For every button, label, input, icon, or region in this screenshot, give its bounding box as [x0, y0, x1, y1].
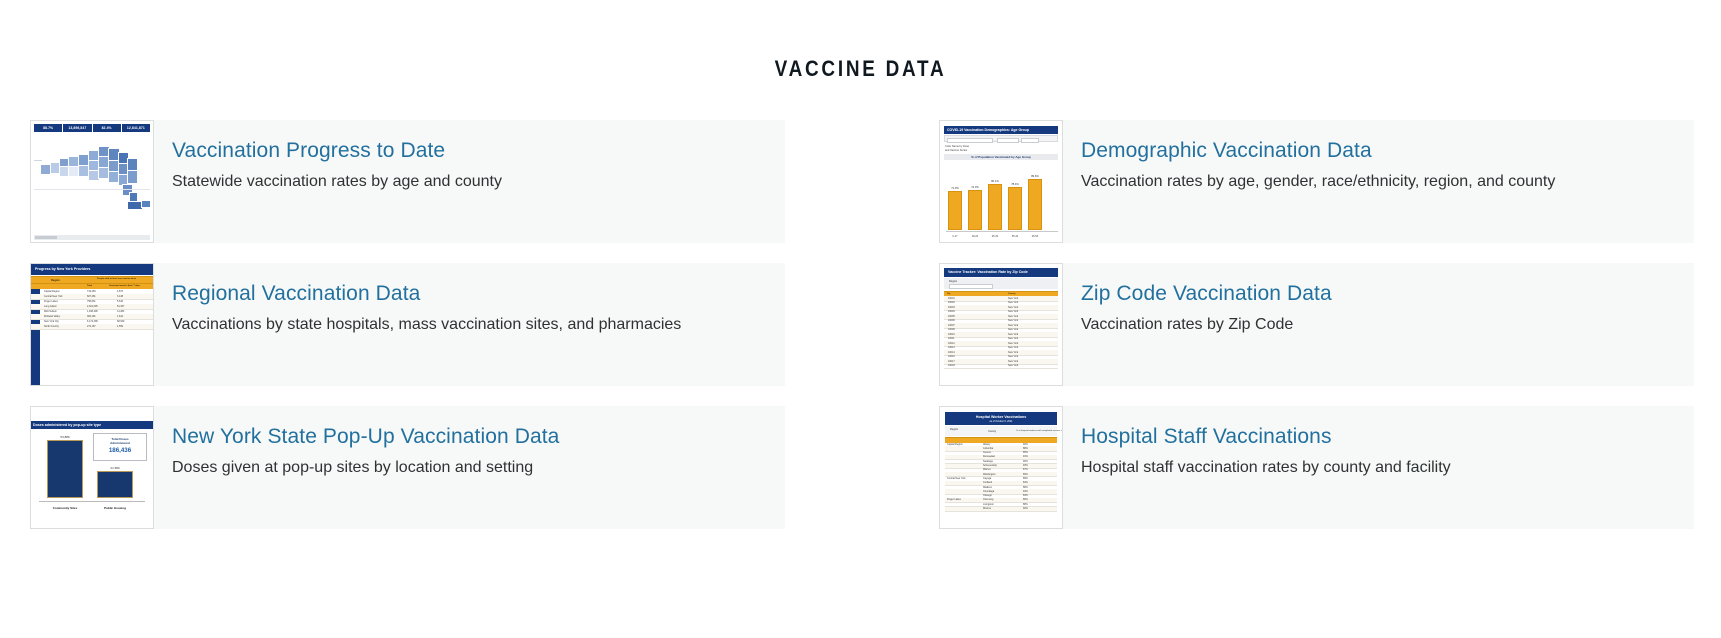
thumb-stat-value: 82.4%: [93, 124, 121, 132]
card-title-link[interactable]: Regional Vaccination Data: [172, 281, 681, 306]
thumb-select: [947, 138, 993, 143]
thumb-kpi-box: Total Doses Administered 186,436: [93, 433, 147, 461]
table-cell: 3,148: [117, 295, 123, 298]
table-cell: 68,939: [117, 320, 124, 323]
card-title-link[interactable]: Zip Code Vaccination Data: [1081, 281, 1332, 306]
thumb-header-title: COVID-19 Vaccination Demographics: Age G…: [944, 126, 1058, 132]
table-cell: 1,559: [117, 325, 123, 328]
table-cell: 758,661: [87, 300, 96, 303]
thumb-group-header: People with at least one vaccine dose: [97, 278, 136, 280]
thumb-col-header: County: [1008, 293, 1016, 295]
table-cell: North Country: [44, 325, 59, 328]
thumb-bar: [948, 191, 962, 230]
table-cell: 10016: [948, 355, 955, 358]
table-cell: 92%: [1023, 443, 1028, 446]
card-description: Doses given at pop-up sites by location …: [172, 458, 559, 478]
thumb-x-label: 45-54: [1028, 235, 1042, 238]
card-title-link[interactable]: New York State Pop-Up Vaccination Data: [172, 424, 559, 449]
thumb-bar-label: 78.4%: [1008, 183, 1022, 186]
table-cell: 14,284: [117, 310, 124, 313]
table-cell: New York: [1008, 360, 1018, 363]
thumb-col-header: Vaccinated week to date / 7 days: [109, 285, 140, 287]
table-cell: New York: [1008, 333, 1018, 336]
table-row: North Country 274,187 1,559: [31, 324, 153, 330]
table-cell: 10002: [948, 301, 955, 304]
card-body: Zip Code Vaccination Data Vaccination ra…: [1081, 263, 1344, 335]
vaccine-data-card-grid: 88.7% 13,896,847 82.4% 12,841,871: [30, 120, 1694, 529]
thumb-bar-plot: 71.3% 72.3% 80.1% 78.4% 89.6%: [946, 163, 1058, 230]
table-cell: Capital Region: [44, 290, 60, 293]
thumb-bar-label: 53,889: [43, 435, 87, 439]
card-body: New York State Pop-Up Vaccination Data D…: [172, 406, 571, 478]
thumb-bar: [1008, 187, 1022, 230]
card-popup-vaccination[interactable]: Doses administered by pop-up site type T…: [30, 406, 785, 529]
table-cell: Mid-Hudson: [44, 310, 57, 313]
thumb-x-label: Public Housing: [91, 506, 139, 510]
thumb-bar-label: 71.3%: [948, 187, 962, 190]
table-cell: 10003: [948, 306, 955, 309]
thumb-col-header: County: [983, 428, 996, 433]
card-body: Vaccination Progress to Date Statewide v…: [172, 120, 514, 192]
thumb-filter-row: [944, 135, 1058, 142]
thumb-stat-value: 12,841,871: [122, 124, 150, 132]
table-cell: Greene: [983, 451, 991, 454]
thumb-kpi-value: 186,436: [94, 446, 146, 454]
table-cell: New York City: [44, 320, 59, 323]
table-cell: 1,468,498: [87, 310, 98, 313]
table-cell: Washington: [983, 473, 996, 476]
thumbnail-vaccination-progress[interactable]: 88.7% 13,896,847 82.4% 12,841,871: [30, 120, 154, 243]
card-description: Vaccination rates by Zip Code: [1081, 315, 1332, 335]
thumb-bar-label: 21,580: [93, 466, 137, 470]
thumb-col-header: Region: [51, 279, 60, 282]
table-cell: 384,181: [87, 315, 96, 318]
table-cell: 274,187: [87, 325, 96, 328]
thumb-x-label: Community Sites: [41, 506, 89, 510]
table-cell: New York: [1008, 310, 1018, 313]
thumb-select: [1021, 138, 1039, 143]
table-cell: New York: [1008, 337, 1018, 340]
thumb-x-label: 18-24: [968, 235, 982, 238]
thumbnail-hospital-staff-vaccinations[interactable]: Hospital Worker Vaccinations as of Octob…: [939, 406, 1063, 529]
table-cell: Mohawk Valley: [44, 315, 60, 318]
table-cell: 607,481: [87, 295, 96, 298]
thumb-bar: [988, 184, 1002, 230]
table-cell: 88%: [1023, 486, 1028, 489]
table-cell: Long Island: [44, 305, 56, 308]
new-york-choropleth-map: [34, 134, 150, 233]
table-cell: Chemung: [983, 498, 993, 501]
thumb-bar: [1028, 179, 1042, 230]
thumbnail-popup-vaccination[interactable]: Doses administered by pop-up site type T…: [30, 406, 154, 529]
table-cell: New York: [1008, 346, 1018, 349]
table-cell: 88%: [1023, 447, 1028, 450]
thumb-x-label: 25-34: [988, 235, 1002, 238]
thumb-subtitle-bar: % of Population Vaccinated by Age Group: [944, 154, 1058, 160]
table-cell: 10009: [948, 328, 955, 331]
table-cell: New York: [1008, 306, 1018, 309]
table-cell: 4,873: [117, 290, 123, 293]
table-cell: 10017: [948, 360, 955, 363]
table-row: Monroe92%: [945, 507, 1057, 512]
thumb-x-label: 35-44: [1008, 235, 1022, 238]
table-cell: New York: [1008, 328, 1018, 331]
table-cell: Cortland: [983, 481, 992, 484]
table-cell: New York: [1008, 315, 1018, 318]
thumb-footer-bar: [34, 235, 150, 240]
table-cell: 91%: [1023, 455, 1028, 458]
table-cell: New York: [1008, 324, 1018, 327]
card-body: Demographic Vaccination Data Vaccination…: [1081, 120, 1567, 192]
table-cell: 719,483: [87, 290, 96, 293]
table-cell: 5,615: [117, 300, 123, 303]
thumb-bar: [47, 440, 83, 498]
thumb-stat-value: 13,896,847: [63, 124, 91, 132]
table-cell: 94%: [1023, 490, 1028, 493]
thumb-header-subtitle: as of October 6, 2021: [945, 419, 1057, 423]
table-cell: 88%: [1023, 503, 1028, 506]
card-description: Statewide vaccination rates by age and c…: [172, 172, 502, 192]
table-cell: New York: [1008, 301, 1018, 304]
thumb-header-title: Progress by New York Providers: [31, 264, 153, 271]
table-cell: 86%: [1023, 473, 1028, 476]
table-cell: 10011: [948, 337, 954, 340]
table-cell: 10005: [948, 315, 955, 318]
thumb-header-bar: COVID-19 Vaccination Demographics: Age G…: [944, 126, 1058, 134]
table-cell: Saratoga: [983, 460, 993, 463]
card-body: Regional Vaccination Data Vaccinations b…: [172, 263, 693, 335]
table-cell: 86%: [1023, 498, 1028, 501]
thumb-legend-line-2: and Vaccine Series: [945, 149, 969, 153]
table-cell: 90%: [1023, 460, 1028, 463]
card-title-link[interactable]: Hospital Staff Vaccinations: [1081, 424, 1451, 449]
table-cell: 87%: [1023, 468, 1028, 471]
table-cell: 51,337: [117, 305, 124, 308]
table-cell: New York: [1008, 351, 1018, 354]
table-cell: 92%: [1023, 507, 1028, 510]
card-title-link[interactable]: Vaccination Progress to Date: [172, 138, 502, 163]
table-cell: 84%: [1023, 481, 1028, 484]
thumb-stat-bar: 88.7% 13,896,847 82.4% 12,841,871: [34, 124, 150, 132]
card-vaccination-progress[interactable]: 88.7% 13,896,847 82.4% 12,841,871: [30, 120, 785, 243]
table-cell: 6,174,398: [87, 320, 98, 323]
table-cell: New York: [1008, 319, 1018, 322]
table-cell: Madison: [983, 486, 992, 489]
table-cell: Oswego: [983, 494, 992, 497]
thumb-header-bar: Vaccine Tracker: Vaccination Rate by Zip…: [944, 268, 1058, 277]
thumb-filter-panel: Region: [944, 278, 1058, 289]
thumb-column-labels: Region County % of hospital workers with…: [945, 426, 1057, 436]
thumbnail-zip-code-vaccination[interactable]: Vaccine Tracker: Vaccination Rate by Zip…: [939, 263, 1063, 386]
table-cell: Monroe: [983, 507, 991, 510]
table-cell: 10007: [948, 324, 955, 327]
thumb-header-title: Hospital Worker Vaccinations: [945, 412, 1057, 419]
table-cell: 10018: [948, 364, 955, 367]
card-regional-vaccination[interactable]: Progress by New York Providers Region Pe…: [30, 263, 785, 386]
table-cell: 10013: [948, 346, 955, 349]
card-body: Hospital Staff Vaccinations Hospital sta…: [1081, 406, 1463, 478]
table-cell: Schenectady: [983, 464, 997, 467]
table-cell: New York: [1008, 342, 1018, 345]
table-cell: 83%: [1023, 494, 1028, 497]
card-title-link[interactable]: Demographic Vaccination Data: [1081, 138, 1555, 163]
table-cell: Rensselaer: [983, 455, 995, 458]
thumb-header-bar: Doses administered by pop-up site type: [31, 421, 153, 429]
thumb-bar-label: 89.6%: [1028, 175, 1042, 178]
thumb-bar-label: 80.1%: [988, 180, 1002, 183]
table-cell: 1,612: [117, 315, 123, 318]
thumb-x-axis: [946, 231, 1058, 232]
table-cell: New York: [1008, 355, 1018, 358]
table-cell: New York: [1008, 297, 1018, 300]
table-cell: Central New York: [44, 295, 62, 298]
card-demographic-vaccination[interactable]: COVID-19 Vaccination Demographics: Age G…: [939, 120, 1694, 243]
thumb-legend: Color Name by Dose and Vaccine Series: [945, 145, 969, 152]
card-zip-code-vaccination[interactable]: Vaccine Tracker: Vaccination Rate by Zip…: [939, 263, 1694, 386]
table-cell: Onondaga: [983, 490, 994, 493]
table-cell: 93%: [1023, 464, 1028, 467]
thumb-col-header: Zip: [947, 293, 950, 295]
table-row: 10018New York: [944, 364, 1058, 370]
table-cell: Finger Lakes: [947, 498, 961, 501]
table-cell: Warren: [983, 468, 991, 471]
thumb-header-title: Doses administered by pop-up site type: [31, 421, 153, 427]
card-description: Vaccinations by state hospitals, mass va…: [172, 315, 681, 335]
table-cell: 10004: [948, 310, 955, 313]
table-cell: 85%: [1023, 451, 1028, 454]
thumb-filter-label: Region: [944, 278, 1058, 283]
table-cell: New York: [1008, 364, 1018, 367]
thumb-stat-value: 88.7%: [34, 124, 62, 132]
table-cell: Cayuga: [983, 477, 991, 480]
table-cell: 10012: [948, 342, 955, 345]
table-cell: Columbia: [983, 447, 993, 450]
page-title: VACCINE DATA: [120, 0, 1600, 82]
thumb-bar-label: 72.3%: [968, 186, 982, 189]
thumb-subtitle: % of Population Vaccinated by Age Group: [944, 154, 1058, 159]
table-cell: Albany: [983, 443, 990, 446]
thumbnail-demographic-vaccination[interactable]: COVID-19 Vaccination Demographics: Age G…: [939, 120, 1063, 243]
table-cell: 2,021,095: [87, 305, 98, 308]
thumb-header-bar: Hospital Worker Vaccinations as of Octob…: [945, 412, 1057, 425]
card-description: Vaccination rates by age, gender, race/e…: [1081, 172, 1555, 192]
card-hospital-staff-vaccinations[interactable]: Hospital Worker Vaccinations as of Octob…: [939, 406, 1694, 529]
table-cell: 10001: [948, 297, 955, 300]
thumb-header-bar: Progress by New York Providers: [31, 264, 153, 275]
thumb-select: [997, 138, 1019, 143]
table-cell: 10010: [948, 333, 955, 336]
thumb-x-label: 0-17: [948, 235, 962, 238]
table-cell: Central New York: [947, 477, 965, 480]
thumb-col-header: Total: [87, 285, 92, 287]
table-cell: Capital Region: [947, 443, 963, 446]
thumb-header-title: Vaccine Tracker: Vaccination Rate by Zip…: [944, 268, 1058, 274]
thumb-group-header: % of hospital workers with completed vac…: [1011, 428, 1063, 432]
thumbnail-regional-vaccination[interactable]: Progress by New York Providers Region Pe…: [30, 263, 154, 386]
table-cell: Livingston: [983, 503, 994, 506]
card-description: Hospital staff vaccination rates by coun…: [1081, 458, 1451, 478]
table-cell: 89%: [1023, 477, 1028, 480]
table-cell: Finger Lakes: [44, 300, 58, 303]
thumb-bar: [97, 471, 133, 498]
table-cell: 10014: [948, 351, 955, 354]
thumb-bar: [968, 190, 982, 230]
page-root: VACCINE DATA 88.7% 13,896,847 82.4% 12,8…: [0, 0, 1721, 638]
table-cell: 10006: [948, 319, 955, 322]
